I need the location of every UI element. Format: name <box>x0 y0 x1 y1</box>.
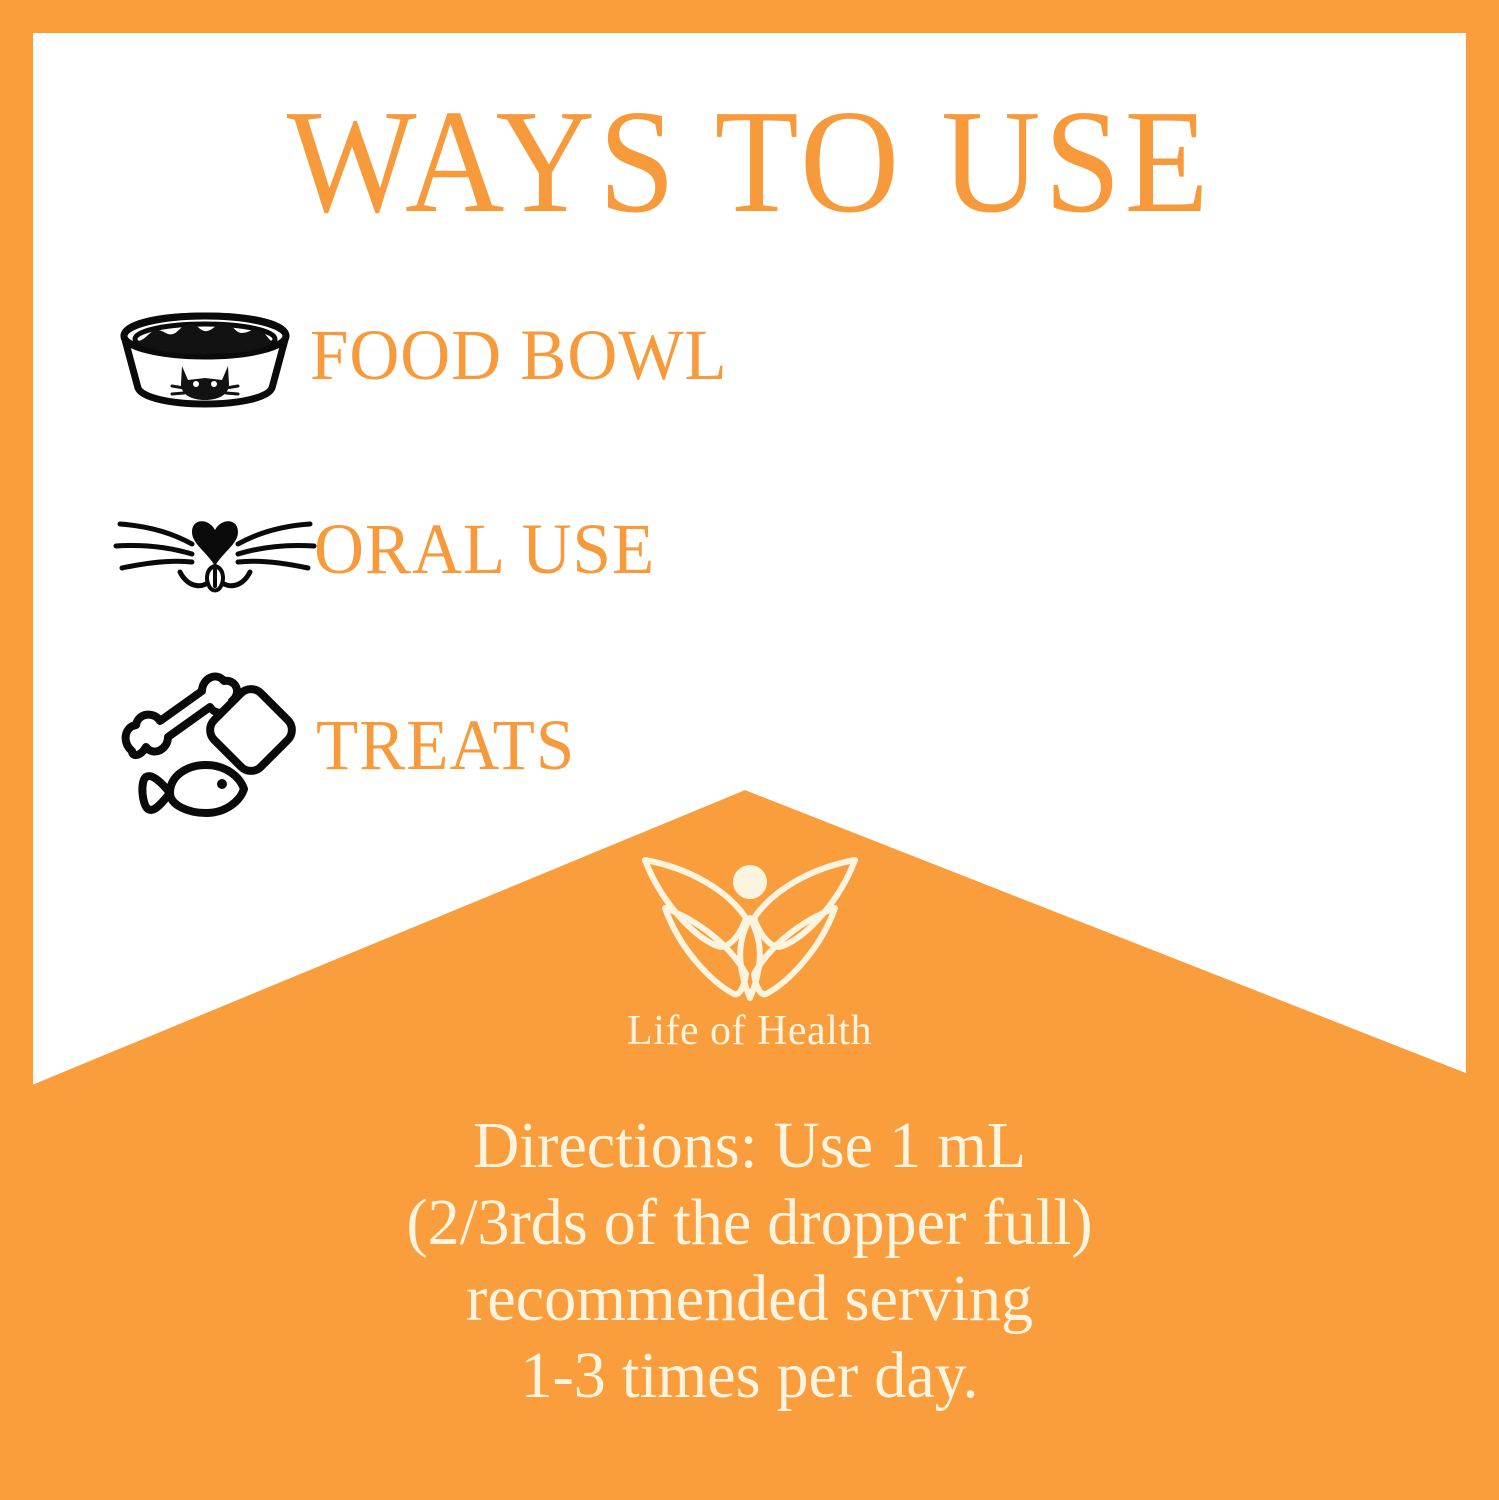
usage-list: FOOD BOWL <box>0 0 1499 860</box>
pet-food-bowl-icon <box>110 300 300 410</box>
brand-block: Life of Health <box>0 846 1499 1052</box>
cat-face-whiskers-icon <box>110 494 320 604</box>
directions-text: Directions: Use 1 mL (2/3rds of the drop… <box>0 1108 1499 1414</box>
winged-figure-logo-icon <box>635 846 865 1006</box>
directions-line: 1-3 times per day. <box>22 1338 1476 1415</box>
usage-item-treats: TREATS <box>110 665 586 825</box>
usage-item-label: FOOD BOWL <box>310 319 728 391</box>
directions-line: (2/3rds of the dropper full) <box>22 1185 1476 1262</box>
directions-line: recommended serving <box>22 1261 1476 1338</box>
bone-biscuit-fish-treats-icon <box>110 665 300 825</box>
brand-name: Life of Health <box>0 1010 1499 1052</box>
usage-item-oral-use: ORAL USE <box>110 494 669 604</box>
usage-item-label: ORAL USE <box>314 513 655 585</box>
directions-line: Directions: Use 1 mL <box>22 1108 1476 1185</box>
usage-item-label: TREATS <box>316 709 575 781</box>
logo-head-dot <box>733 865 767 899</box>
ways-to-use-infographic: WAYS TO USE <box>0 0 1499 1500</box>
usage-item-food-bowl: FOOD BOWL <box>110 300 745 410</box>
